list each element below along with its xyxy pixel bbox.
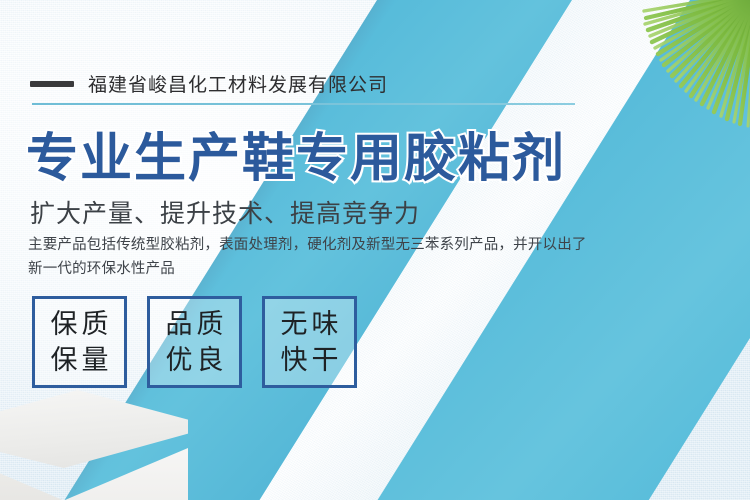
badge-line-1: 保质 <box>47 307 113 341</box>
banner-content: 福建省峻昌化工材料发展有限公司 专业生产鞋专用胶粘剂 扩大产量、提升技术、提高竞… <box>0 0 750 500</box>
badge-line-2: 快干 <box>277 343 343 377</box>
status-badge: 无味 快干 <box>262 296 357 388</box>
company-name: 福建省峻昌化工材料发展有限公司 <box>88 70 388 97</box>
promo-banner: 福建省峻昌化工材料发展有限公司 专业生产鞋专用胶粘剂 扩大产量、提升技术、提高竞… <box>0 0 750 500</box>
badge-line-2: 优良 <box>162 343 228 377</box>
body-copy: 主要产品包括传统型胶粘剂，表面处理剂，硬化剂及新型无三苯系列产品，并开以出了新一… <box>28 233 588 281</box>
eyebrow: 福建省峻昌化工材料发展有限公司 <box>30 70 388 97</box>
badge-line-2: 保量 <box>47 343 113 377</box>
badge-line-1: 品质 <box>162 307 228 341</box>
divider-rule <box>32 103 575 105</box>
status-badge: 品质 优良 <box>147 296 242 388</box>
page-title: 专业生产鞋专用胶粘剂 <box>26 116 566 191</box>
status-badge: 保质 保量 <box>32 296 127 388</box>
horizontal-dash-icon <box>30 81 74 87</box>
badge-group: 保质 保量 品质 优良 无味 快干 <box>32 296 357 388</box>
subtitle: 扩大产量、提升技术、提高竞争力 <box>30 194 420 230</box>
badge-line-1: 无味 <box>277 307 343 341</box>
